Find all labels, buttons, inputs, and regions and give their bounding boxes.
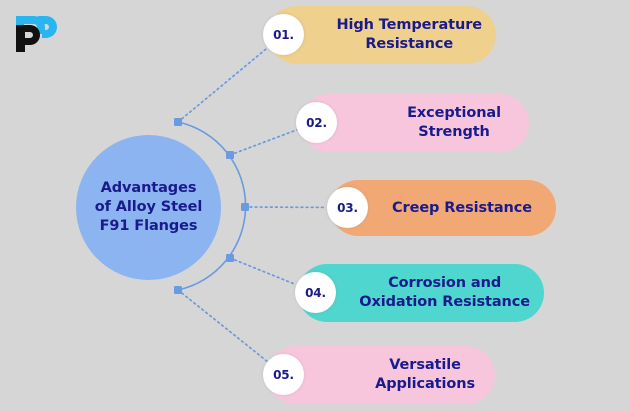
benefit-number-badge[interactable]: 05. (263, 354, 304, 395)
connector-line (178, 48, 267, 122)
benefit-number-badge[interactable]: 02. (296, 102, 337, 143)
benefit-number-text: 01. (273, 28, 294, 42)
benefit-number-text: 03. (337, 201, 358, 215)
benefit-number-badge[interactable]: 03. (327, 187, 368, 228)
benefit-label: Versatile Applications (375, 356, 475, 394)
benefit-label: Corrosion and Oxidation Resistance (359, 274, 530, 312)
arc-node (174, 118, 182, 126)
benefit-number-text: 02. (306, 116, 327, 130)
center-circle: Advantages of Alloy Steel F91 Flanges (76, 135, 221, 280)
arc-node (174, 286, 182, 294)
connector-line (230, 130, 297, 155)
benefit-number-text: 04. (305, 286, 326, 300)
benefit-number-badge[interactable]: 01. (263, 14, 304, 55)
logo-p-letter (16, 25, 40, 52)
connector-line (230, 258, 296, 285)
arc-node (241, 203, 249, 211)
arc-node (226, 254, 234, 262)
infographic-canvas: Advantages of Alloy Steel F91 Flanges Hi… (0, 0, 630, 412)
benefit-number-badge[interactable]: 04. (295, 272, 336, 313)
benefit-label: High Temperature Resistance (336, 16, 482, 54)
center-title: Advantages of Alloy Steel F91 Flanges (87, 179, 211, 236)
connector-line (178, 290, 267, 361)
benefit-label: Exceptional Strength (407, 104, 501, 142)
benefit-label: Creep Resistance (392, 199, 532, 218)
benefit-number-text: 05. (273, 368, 294, 382)
pm-logo (12, 8, 58, 52)
arc-node (226, 151, 234, 159)
